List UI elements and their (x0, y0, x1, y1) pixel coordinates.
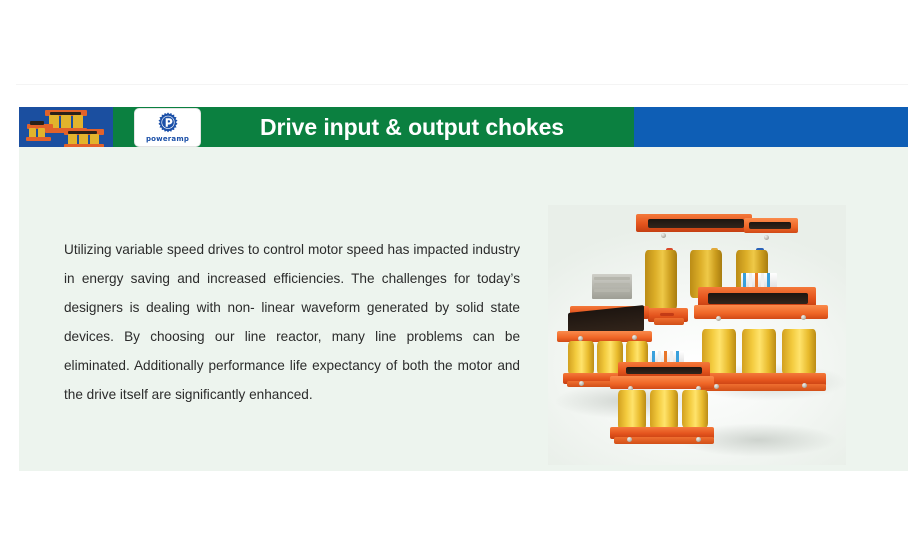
description-paragraph: Utilizing variable speed drives to contr… (64, 235, 520, 409)
slide-top-band (16, 0, 908, 85)
poweramp-logo[interactable]: poweramp (135, 109, 200, 146)
content-panel: Utilizing variable speed drives to contr… (19, 147, 908, 471)
photo-stage (548, 205, 846, 465)
slide-canvas: Drive input & output chokes poweramp Uti… (0, 0, 924, 550)
poweramp-gear-logo (157, 112, 178, 133)
choke-product-thumbnail (19, 107, 113, 147)
page-title: Drive input & output chokes (260, 107, 564, 147)
poweramp-wordmark: poweramp (135, 135, 200, 143)
choke-product-photo (548, 205, 846, 465)
